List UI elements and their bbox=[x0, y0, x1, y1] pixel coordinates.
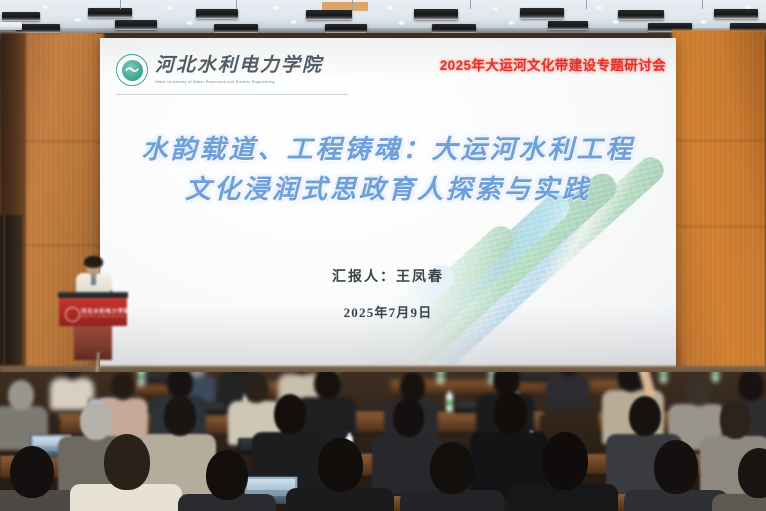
right-wall-panel bbox=[672, 30, 766, 385]
ceiling-downlight bbox=[492, 7, 499, 11]
ceiling-downlight bbox=[386, 6, 393, 10]
institution-name-en: Hebei University of Water Resources and … bbox=[155, 80, 323, 84]
institution-name-cn: 河北水利电力学院 bbox=[155, 56, 323, 77]
presentation-date: 2025年7月9日 bbox=[100, 302, 676, 321]
water-bottle bbox=[437, 372, 444, 384]
ceiling-downlight bbox=[612, 20, 619, 24]
ceiling-downlight bbox=[508, 21, 515, 25]
audience-member bbox=[286, 438, 394, 511]
podium-name-en: Hebei Univ. of Water Resources bbox=[81, 315, 125, 318]
audience-member bbox=[0, 446, 80, 511]
water-bottle bbox=[446, 394, 453, 412]
audience-member bbox=[712, 448, 766, 511]
institution-logo: ～ 河北水利电力学院 Hebei University of Water Res… bbox=[116, 54, 323, 86]
stage-light-fixture bbox=[88, 8, 132, 18]
audience-area bbox=[0, 372, 766, 511]
stage-light-fixture bbox=[714, 9, 758, 19]
ceiling-downlight bbox=[166, 6, 173, 10]
audience-member bbox=[400, 442, 504, 511]
stage-light-fixture bbox=[214, 24, 258, 33]
ceiling-downlight bbox=[744, 5, 751, 9]
audience-member bbox=[546, 372, 590, 408]
slide-title-line-1: 水韵载道、工程铸魂：大运河水利工程 bbox=[100, 130, 676, 170]
slide-title-line-2: 文化浸润式思政育人探索与实践 bbox=[100, 170, 676, 210]
ceiling-downlight bbox=[596, 6, 603, 10]
ceiling-downlight bbox=[74, 18, 81, 22]
stage-light-fixture bbox=[432, 24, 476, 33]
presenter-block: 汇报人：王凤春 2025年7月9日 bbox=[100, 266, 676, 321]
ceiling-downlight bbox=[398, 21, 405, 25]
stage-light-fixture bbox=[306, 10, 352, 20]
auditorium-scene: ～ 河北水利电力学院 Hebei University of Water Res… bbox=[0, 0, 766, 511]
presenter-name: 汇报人：王凤春 bbox=[100, 266, 676, 286]
ceiling-downlight bbox=[700, 20, 707, 24]
stage-light-fixture bbox=[196, 9, 238, 19]
stage-light-fixture bbox=[548, 21, 588, 30]
podium: 河北水利电力学院 Hebei Univ. of Water Resources bbox=[58, 292, 128, 366]
audience-member bbox=[508, 432, 618, 511]
ceiling-downlight bbox=[186, 21, 193, 25]
stage-light-fixture bbox=[0, 22, 22, 30]
stage-light-fixture bbox=[2, 12, 40, 21]
university-seal-icon: ～ bbox=[116, 54, 148, 86]
ceiling-downlight bbox=[42, 5, 49, 9]
ceiling-downlight bbox=[272, 6, 279, 10]
slide-title: 水韵载道、工程铸魂：大运河水利工程 文化浸润式思政育人探索与实践 bbox=[100, 130, 676, 211]
stage-light-fixture bbox=[115, 20, 157, 30]
side-door-frame bbox=[0, 215, 22, 365]
seal-glyph: ～ bbox=[124, 63, 140, 77]
stage-light-fixture bbox=[414, 9, 458, 20]
stage-light-fixture bbox=[16, 24, 60, 33]
logo-divider bbox=[116, 94, 348, 95]
stage-light-fixture bbox=[325, 24, 367, 33]
conference-banner: 2025年大运河文化带建设专题研讨会 bbox=[440, 54, 666, 74]
podium-seal-icon bbox=[65, 307, 80, 322]
stage-light-fixture bbox=[618, 10, 664, 20]
ceiling-downlight bbox=[290, 20, 297, 24]
projection-screen: ～ 河北水利电力学院 Hebei University of Water Res… bbox=[100, 38, 676, 372]
podium-name-cn: 河北水利电力学院 bbox=[81, 307, 130, 315]
audience-member bbox=[178, 450, 276, 511]
audience-member bbox=[70, 434, 182, 511]
stage-light-fixture bbox=[520, 8, 564, 19]
